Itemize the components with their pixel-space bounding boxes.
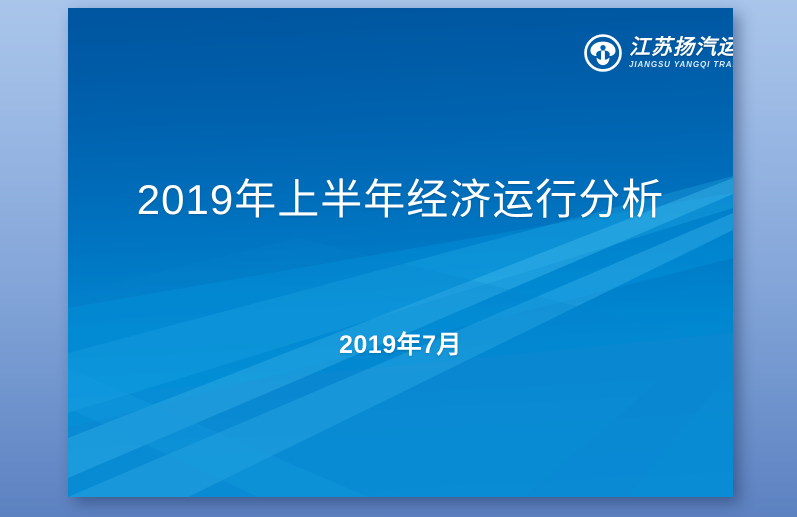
- presentation-viewer: 江苏扬汽运输集团 JIANGSU YANGQI TRANSPORT GROUP …: [0, 0, 797, 517]
- slide-subtitle: 2019年7月: [68, 325, 733, 361]
- jiangsu-yangqi-emblem-icon: [584, 34, 622, 72]
- title-block: 2019年上半年经济运行分析 2019年7月: [68, 8, 733, 497]
- company-logo: 江苏扬汽运输集团 JIANGSU YANGQI TRANSPORT GROUP: [584, 34, 733, 72]
- slide-title: 2019年上半年经济运行分析: [68, 166, 733, 227]
- slide-canvas[interactable]: 江苏扬汽运输集团 JIANGSU YANGQI TRANSPORT GROUP …: [68, 8, 733, 497]
- diagonal-ribbon-decoration: [68, 8, 733, 497]
- logo-wordmark: 江苏扬汽运输集团 JIANGSU YANGQI TRANSPORT GROUP: [629, 37, 733, 69]
- logo-name-en: JIANGSU YANGQI TRANSPORT GROUP: [629, 61, 733, 69]
- logo-name-cn: 江苏扬汽运输集团: [629, 37, 733, 58]
